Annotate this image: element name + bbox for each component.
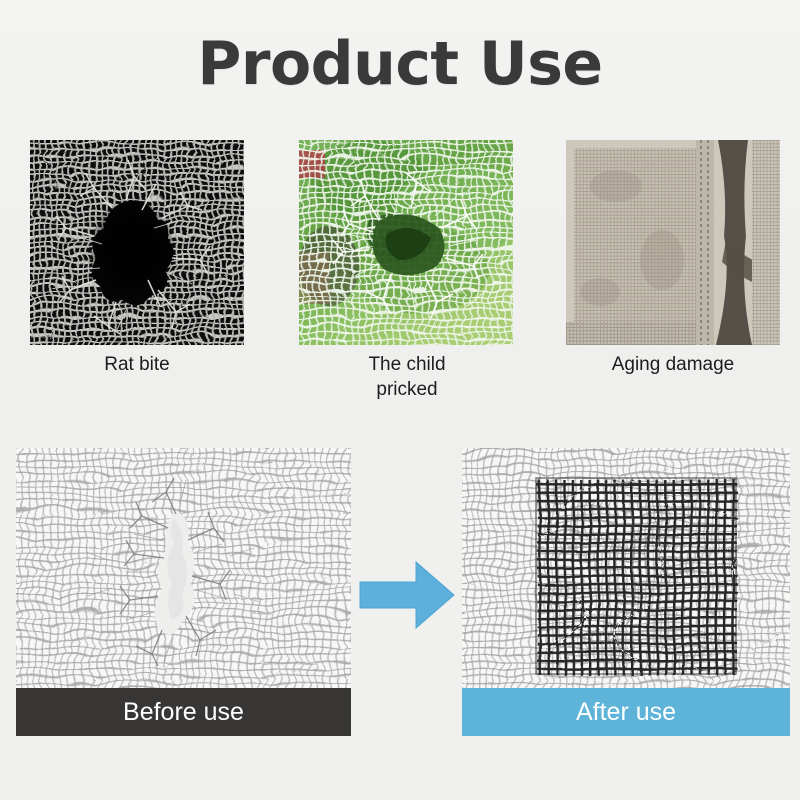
example-caption-child-pricked: The childpricked bbox=[297, 352, 517, 402]
example-caption-rat-bite: Rat bite bbox=[27, 352, 247, 377]
example-image-rat-bite bbox=[30, 140, 244, 345]
page-title: Product Use bbox=[0, 28, 800, 100]
example-image-child-pricked bbox=[299, 140, 513, 345]
after-use-label: After use bbox=[462, 688, 790, 736]
example-image-aging-damage bbox=[566, 140, 780, 345]
before-use-label: Before use bbox=[16, 688, 351, 736]
arrow-right-icon bbox=[358, 558, 456, 633]
infographic-page: Product Use bbox=[0, 0, 800, 800]
example-caption-aging-damage: Aging damage bbox=[563, 352, 783, 377]
before-use-image bbox=[16, 448, 351, 688]
caption-line-1: The child bbox=[368, 354, 445, 375]
caption-line-2: pricked bbox=[376, 379, 437, 400]
after-use-image bbox=[462, 448, 790, 688]
